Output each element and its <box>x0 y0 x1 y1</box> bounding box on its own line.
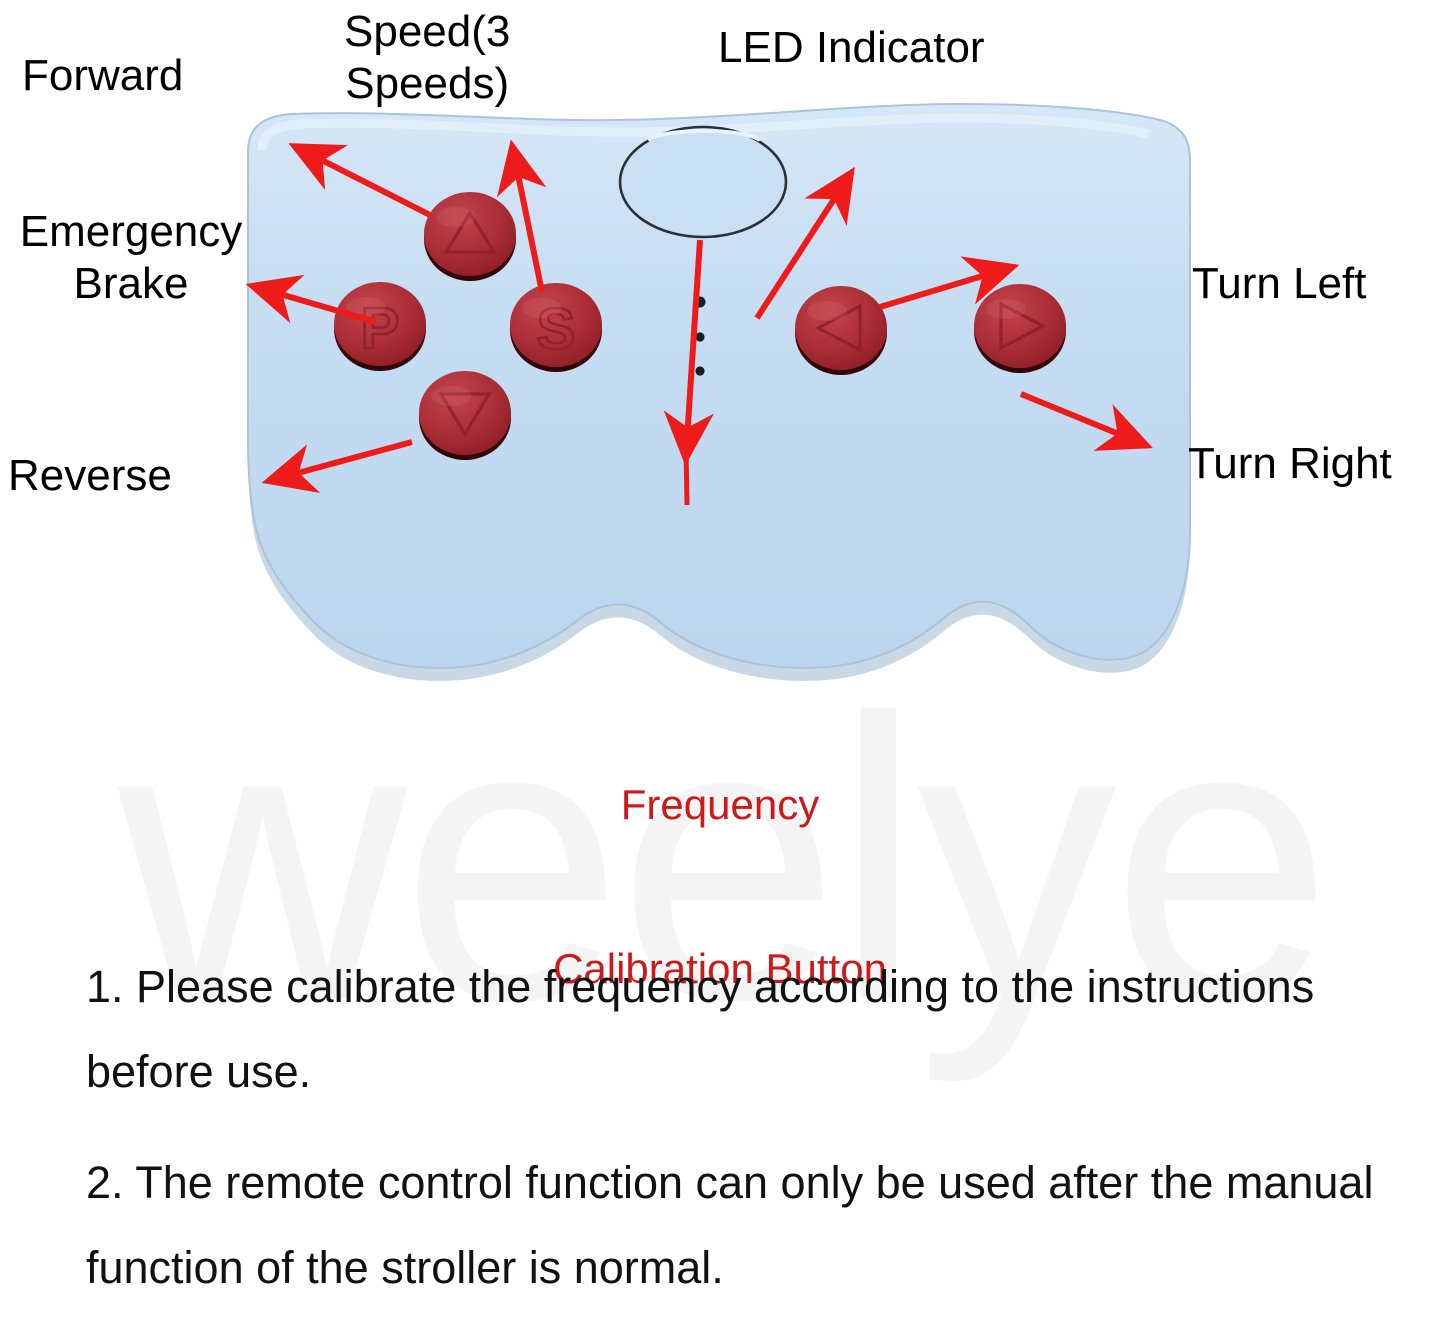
arrow-emergency-brake <box>256 287 376 322</box>
frequency-caption-line-1: Frequency <box>300 764 1140 846</box>
callout-label-led-indicator: LED Indicator <box>718 22 985 74</box>
callout-label-turn-left: Turn Left <box>1192 258 1366 310</box>
callout-label-forward: Forward <box>22 50 183 102</box>
instruction-item-1: 1. Please calibrate the frequency accord… <box>86 944 1376 1114</box>
forward-button-graphic <box>424 192 516 281</box>
arrow-turn-left <box>880 268 1009 307</box>
turn-right-button-graphic <box>974 284 1066 373</box>
speaker-holes <box>695 297 706 376</box>
callout-label-turn-right: Turn Right <box>1188 438 1392 490</box>
led-indicator <box>620 127 786 237</box>
callout-label-emergency-brake: Emergency Brake <box>6 206 256 310</box>
remote-body-shadow <box>248 117 1190 681</box>
callout-label-speed: Speed(3 Speeds) <box>344 6 510 110</box>
arrow-led-indicator <box>757 176 849 318</box>
arrow-forward <box>298 148 430 215</box>
reverse-button-graphic <box>419 371 511 460</box>
arrow-speed <box>513 150 542 292</box>
arrow-reverse <box>272 442 412 480</box>
callout-label-reverse: Reverse <box>8 450 172 502</box>
speed-button-graphic: S <box>510 283 602 372</box>
svg-text:S: S <box>537 297 576 362</box>
arrow-frequency-tail <box>686 448 687 505</box>
arrow-frequency-calibration <box>686 240 700 455</box>
instruction-item-2: 2. The remote control function can only … <box>86 1140 1376 1310</box>
turn-left-button-graphic <box>795 286 887 375</box>
remote-body <box>248 104 1190 668</box>
svg-text:P: P <box>361 296 400 361</box>
emergency-brake-button-graphic: P <box>334 282 426 371</box>
instructions-list: 1. Please calibrate the frequency accord… <box>86 944 1376 1336</box>
arrow-turn-right <box>1021 394 1143 444</box>
